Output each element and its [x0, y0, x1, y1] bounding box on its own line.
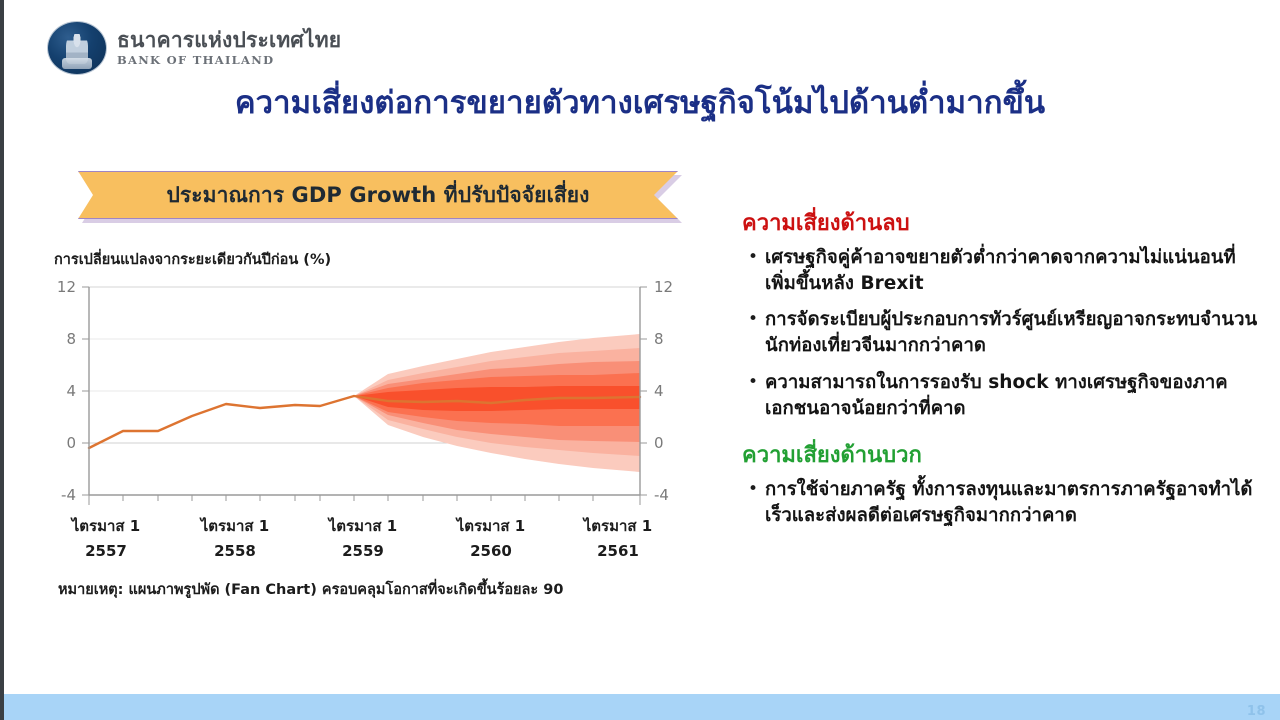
x-cat-year: 2560	[470, 542, 512, 560]
bank-of-thailand-seal-icon	[48, 22, 106, 74]
y-tick-label: 12	[57, 279, 76, 296]
list-item: • เศรษฐกิจคู่ค้าอาจขยายตัวต่ำกว่าคาดจากค…	[742, 245, 1262, 298]
x-cat-quarter: ไตรมาส 1	[199, 516, 269, 535]
gdp-fan-chart: การเปลี่ยนแปลงจากระยะเดียวกันปีก่อน (%)	[48, 248, 708, 608]
y-tick-label: 0	[66, 434, 76, 452]
bullet-icon: •	[742, 370, 756, 395]
x-cat-year: 2557	[85, 542, 127, 560]
brand-name-thai: ธนาคารแห่งประเทศไทย	[117, 29, 341, 51]
chart-y-axis-title: การเปลี่ยนแปลงจากระยะเดียวกันปีก่อน (%)	[54, 248, 708, 271]
y-tick-label-right: 12	[654, 279, 673, 296]
list-item: • การจัดระเบียบผู้ประกอบการทัวร์ศูนย์เหร…	[742, 307, 1262, 360]
x-cat-year: 2559	[342, 542, 384, 560]
positive-risks-list: • การใช้จ่ายภาครัฐ ทั้งการลงทุนและมาตรกา…	[742, 477, 1262, 530]
positive-risks-heading: ความเสี่ยงด้านบวก	[742, 442, 1262, 471]
bullet-icon: •	[742, 477, 756, 502]
bank-of-thailand-logo: ธนาคารแห่งประเทศไทย BANK OF THAILAND	[48, 22, 341, 74]
y-tick-label-right: 4	[654, 382, 664, 400]
x-cat-year: 2558	[214, 542, 256, 560]
slide-canvas: ธนาคารแห่งประเทศไทย BANK OF THAILAND ควา…	[0, 0, 1280, 720]
x-axis-ticks	[89, 495, 640, 505]
page-number: 18	[1247, 704, 1266, 719]
footer-bar	[4, 694, 1280, 720]
chart-footnote: หมายเหตุ: แผนภาพรูปพัด (Fan Chart) ครอบค…	[58, 578, 563, 601]
negative-risks-list: • เศรษฐกิจคู่ค้าอาจขยายตัวต่ำกว่าคาดจากค…	[742, 245, 1262, 423]
list-item-text: ความสามารถในการรองรับ shock ทางเศรษฐกิจข…	[765, 370, 1262, 423]
list-item: • การใช้จ่ายภาครัฐ ทั้งการลงทุนและมาตรกา…	[742, 477, 1262, 530]
page-title: ความเสี่ยงต่อการขยายตัวทางเศรษฐกิจโน้มไป…	[0, 86, 1280, 122]
x-cat-quarter: ไตรมาส 1	[70, 516, 140, 535]
x-axis-category-labels: ไตรมาส 1 2557 ไตรมาส 1 2558 ไตรมาส 1 255…	[70, 516, 652, 560]
panel-spacer	[742, 432, 1262, 442]
x-cat-quarter: ไตรมาส 1	[327, 516, 397, 535]
list-item-text: การใช้จ่ายภาครัฐ ทั้งการลงทุนและมาตรการภ…	[765, 477, 1262, 530]
fan-chart-svg: 12 8 4 0 -4 12 8 4 0 -4	[48, 279, 708, 579]
banner-label: ประมาณการ GDP Growth ที่ปรับปัจจัยเสี่ยง	[166, 179, 589, 212]
y-tick-label-right: -4	[654, 486, 669, 504]
x-cat-quarter: ไตรมาส 1	[455, 516, 525, 535]
list-item: • ความสามารถในการรองรับ shock ทางเศรษฐกิ…	[742, 370, 1262, 423]
chart-section-banner: ประมาณการ GDP Growth ที่ปรับปัจจัยเสี่ยง	[78, 171, 678, 219]
list-item-text: การจัดระเบียบผู้ประกอบการทัวร์ศูนย์เหรีย…	[765, 307, 1262, 360]
y-tick-label: 4	[66, 382, 76, 400]
y-tick-label: 8	[66, 330, 76, 348]
negative-risks-heading: ความเสี่ยงด้านลบ	[742, 210, 1262, 239]
y-tick-label-right: 0	[654, 434, 664, 452]
y-axis-ticks-left: 12 8 4 0 -4	[57, 279, 89, 504]
list-item-text: เศรษฐกิจคู่ค้าอาจขยายตัวต่ำกว่าคาดจากควา…	[765, 245, 1262, 298]
bullet-icon: •	[742, 307, 756, 332]
x-cat-year: 2561	[597, 542, 639, 560]
y-tick-label-right: 8	[654, 330, 664, 348]
y-axis-ticks-right: 12 8 4 0 -4	[640, 279, 673, 504]
risk-panel: ความเสี่ยงด้านลบ • เศรษฐกิจคู่ค้าอาจขยาย…	[742, 210, 1262, 539]
bullet-icon: •	[742, 245, 756, 270]
brand-name-english: BANK OF THAILAND	[117, 53, 341, 67]
y-tick-label: -4	[61, 486, 76, 504]
x-cat-quarter: ไตรมาส 1	[582, 516, 652, 535]
